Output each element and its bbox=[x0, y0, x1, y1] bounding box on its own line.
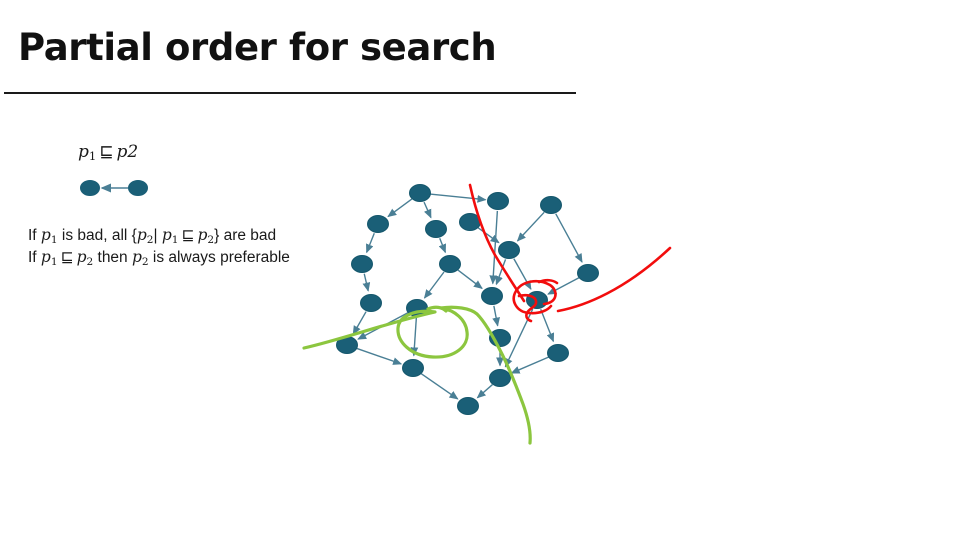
legend-node-left bbox=[81, 181, 100, 196]
graph-edge bbox=[440, 238, 446, 252]
node-a3 bbox=[426, 221, 447, 238]
bad-statement: If p1 is bad, all {p2| p1⊑p2} are bad bbox=[28, 226, 276, 246]
node-e2 bbox=[490, 370, 511, 387]
stmt1-p1-subscript: 1 bbox=[51, 234, 58, 246]
node-e3 bbox=[458, 398, 479, 415]
stmt1-text-a: If bbox=[28, 227, 41, 244]
graph-edge bbox=[556, 214, 582, 262]
stmt1-p1: p bbox=[41, 226, 51, 244]
stmt2-p1: p bbox=[41, 248, 51, 266]
legend-node-right bbox=[129, 181, 148, 196]
node-a5 bbox=[488, 193, 509, 210]
node-e1 bbox=[403, 360, 424, 377]
graph-edge bbox=[458, 270, 482, 288]
stmt2-operator: ⊑ bbox=[58, 248, 77, 266]
stmt2-p2a: p bbox=[77, 248, 87, 266]
formula-operator: ⊑ bbox=[96, 142, 116, 162]
formula-p-right: p2 bbox=[117, 142, 139, 162]
graph-edge bbox=[421, 374, 457, 399]
preferable-statement: If p1⊑p2 then p2 is always preferable bbox=[28, 248, 290, 268]
node-c3 bbox=[482, 288, 503, 305]
stmt1-p1b: p bbox=[162, 226, 172, 244]
node-d3 bbox=[548, 345, 569, 362]
node-a2 bbox=[368, 216, 389, 233]
legend-edge-example bbox=[70, 170, 180, 210]
search-graph bbox=[295, 170, 695, 470]
node-a6 bbox=[541, 197, 562, 214]
formula-p-left: p bbox=[78, 142, 89, 162]
node-c1 bbox=[361, 295, 382, 312]
graph-edge bbox=[414, 318, 417, 356]
graph-edge bbox=[477, 385, 492, 398]
graph-edge bbox=[430, 194, 486, 200]
stmt2-p2b: p bbox=[132, 248, 142, 266]
stmt2-text-b: then bbox=[93, 249, 132, 266]
node-b1 bbox=[352, 256, 373, 273]
graph-edge bbox=[518, 212, 545, 241]
node-b3 bbox=[499, 242, 520, 259]
stmt2-text-a: If bbox=[28, 249, 41, 266]
graph-edge bbox=[388, 199, 412, 217]
stmt1-operator: ⊑ bbox=[178, 226, 197, 244]
stmt1-text-c: | bbox=[153, 227, 161, 244]
graph-edge bbox=[367, 233, 375, 252]
stmt1-text-d: } are bad bbox=[214, 227, 276, 244]
graph-edge bbox=[425, 272, 445, 298]
graph-edge bbox=[493, 211, 498, 284]
stmt2-text-c: is always preferable bbox=[149, 249, 290, 266]
stmt1-p2b: p bbox=[197, 226, 207, 244]
page-title: Partial order for search bbox=[18, 26, 496, 69]
stmt2-p1-subscript: 1 bbox=[51, 256, 58, 268]
graph-edge bbox=[541, 309, 554, 341]
graph-edge bbox=[356, 348, 401, 364]
title-divider bbox=[4, 92, 576, 94]
formula-partial-order: p1⊑p2 bbox=[78, 142, 138, 163]
node-b4 bbox=[578, 265, 599, 282]
graph-edge bbox=[424, 202, 431, 217]
stmt1-text-b: is bad, all { bbox=[58, 227, 137, 244]
node-a1 bbox=[410, 185, 431, 202]
stmt2-p2b-subscript: 2 bbox=[142, 256, 149, 268]
node-b2 bbox=[440, 256, 461, 273]
graph-edge bbox=[364, 274, 368, 291]
stmt1-p2a: p bbox=[137, 226, 147, 244]
slide-canvas: Partial order for search p1⊑p2 If p1 is … bbox=[0, 0, 960, 540]
graph-edge bbox=[511, 357, 548, 373]
graph-edge bbox=[494, 306, 498, 326]
